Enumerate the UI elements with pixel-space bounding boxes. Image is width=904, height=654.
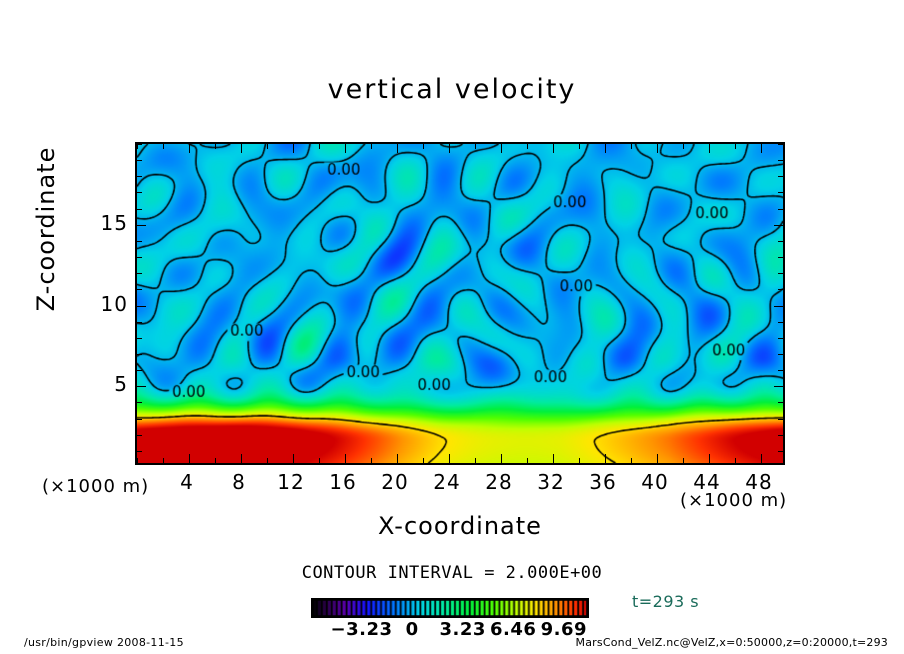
axis-tick <box>137 435 142 436</box>
axis-tick <box>657 144 658 153</box>
axis-tick <box>137 273 142 274</box>
axis-tick <box>683 458 684 463</box>
plot-area <box>135 142 785 465</box>
axis-tick <box>527 144 528 149</box>
footer-command-label: /usr/bin/gpview 2008-11-15 <box>24 636 184 649</box>
axis-tick <box>735 144 736 149</box>
axis-tick <box>774 386 783 387</box>
axis-tick <box>778 402 783 403</box>
axis-tick <box>293 144 294 153</box>
axis-tick <box>683 144 684 149</box>
axis-tick <box>631 144 632 149</box>
axis-tick <box>345 454 346 463</box>
axis-tick <box>137 386 146 387</box>
axis-tick <box>553 454 554 463</box>
axis-tick <box>778 370 783 371</box>
x-axis-title: X-coordinate <box>135 512 785 540</box>
axis-tick <box>137 458 138 463</box>
axis-tick <box>778 241 783 242</box>
time-label: t=293 s <box>632 592 699 611</box>
axis-tick <box>137 354 142 355</box>
axis-tick <box>371 458 372 463</box>
axis-tick <box>397 454 398 463</box>
contour-lines-overlay <box>137 144 783 463</box>
axis-tick <box>778 209 783 210</box>
axis-tick <box>163 144 164 149</box>
contour-interval-caption: CONTOUR INTERVAL = 2.000E+00 <box>0 563 904 583</box>
axis-tick <box>267 144 268 149</box>
axis-tick <box>778 144 783 145</box>
colorbar-tick-label: 0 <box>406 619 419 640</box>
x-tick-label: 8 <box>232 470 246 494</box>
y-tick-label: 15 <box>101 211 128 235</box>
axis-tick <box>778 160 783 161</box>
axis-tick <box>475 458 476 463</box>
axis-tick <box>501 454 502 463</box>
y-tick-label: 10 <box>101 292 128 316</box>
axis-tick <box>778 322 783 323</box>
axis-tick <box>215 144 216 149</box>
axis-tick <box>761 454 762 463</box>
axis-tick <box>241 454 242 463</box>
axis-tick <box>631 458 632 463</box>
colorbar-tick-labels: −3.2303.236.469.69 <box>311 619 589 641</box>
x-tick-label: 24 <box>433 470 460 494</box>
axis-tick <box>137 209 142 210</box>
axis-tick <box>137 241 142 242</box>
axis-tick <box>735 458 736 463</box>
axis-tick <box>774 225 783 226</box>
axis-tick <box>778 176 783 177</box>
colorbar-gradient <box>311 598 589 618</box>
axis-tick <box>137 257 142 258</box>
axis-tick <box>267 458 268 463</box>
axis-tick <box>137 160 142 161</box>
x-tick-label: 12 <box>277 470 304 494</box>
axis-tick <box>475 144 476 149</box>
axis-tick <box>778 435 783 436</box>
axis-tick <box>345 144 346 153</box>
axis-tick <box>293 454 294 463</box>
x-tick-label: 16 <box>329 470 356 494</box>
page-title: vertical velocity <box>0 74 904 105</box>
axis-tick <box>241 144 242 153</box>
axis-tick <box>449 144 450 153</box>
axis-tick <box>657 454 658 463</box>
axis-tick <box>605 454 606 463</box>
axis-tick <box>778 354 783 355</box>
colorbar-tick-label: 6.46 <box>490 619 536 640</box>
axis-tick <box>137 402 142 403</box>
axis-tick <box>137 451 142 452</box>
axis-tick <box>319 144 320 149</box>
axis-tick <box>778 289 783 290</box>
y-axis-title: Z-coordinate <box>32 139 60 319</box>
x-axis-unit-right: (×1000 m) <box>680 490 787 511</box>
axis-tick <box>778 451 783 452</box>
axis-tick <box>137 289 142 290</box>
axis-tick <box>137 225 146 226</box>
axis-tick <box>189 144 190 153</box>
axis-tick <box>137 370 142 371</box>
axis-tick <box>501 144 502 153</box>
axis-tick <box>709 144 710 153</box>
axis-tick <box>605 144 606 153</box>
axis-tick <box>778 192 783 193</box>
axis-tick <box>449 454 450 463</box>
axis-tick <box>423 458 424 463</box>
axis-tick <box>137 322 142 323</box>
x-tick-label: 40 <box>641 470 668 494</box>
axis-tick <box>137 419 142 420</box>
colorbar <box>311 598 589 618</box>
axis-tick <box>761 144 762 153</box>
axis-tick <box>215 458 216 463</box>
axis-tick <box>371 144 372 149</box>
axis-tick <box>423 144 424 149</box>
axis-tick <box>778 273 783 274</box>
axis-tick <box>778 257 783 258</box>
axis-tick <box>137 306 146 307</box>
footer-dataset-label: MarsCond_VelZ.nc@VelZ,x=0:50000,z=0:2000… <box>576 636 888 649</box>
axis-tick <box>137 176 142 177</box>
axis-tick <box>137 144 142 145</box>
axis-tick <box>778 419 783 420</box>
axis-tick <box>774 306 783 307</box>
x-axis-unit-left: (×1000 m) <box>42 476 149 497</box>
axis-tick <box>579 458 580 463</box>
axis-tick <box>553 144 554 153</box>
axis-tick <box>163 458 164 463</box>
y-axis-tick-labels: 51015 <box>90 142 128 465</box>
axis-tick <box>709 454 710 463</box>
colorbar-tick-label: −3.23 <box>331 619 393 640</box>
axis-tick <box>189 454 190 463</box>
y-tick-label: 5 <box>114 372 128 396</box>
x-tick-label: 32 <box>537 470 564 494</box>
x-tick-label: 36 <box>589 470 616 494</box>
axis-tick <box>137 338 142 339</box>
axis-tick <box>527 458 528 463</box>
axis-tick <box>778 338 783 339</box>
axis-tick <box>579 144 580 149</box>
axis-tick <box>397 144 398 153</box>
colorbar-tick-label: 3.23 <box>439 619 485 640</box>
x-tick-label: 28 <box>485 470 512 494</box>
axis-tick <box>319 458 320 463</box>
axis-tick <box>137 192 142 193</box>
x-tick-label: 4 <box>180 470 194 494</box>
x-tick-label: 20 <box>381 470 408 494</box>
